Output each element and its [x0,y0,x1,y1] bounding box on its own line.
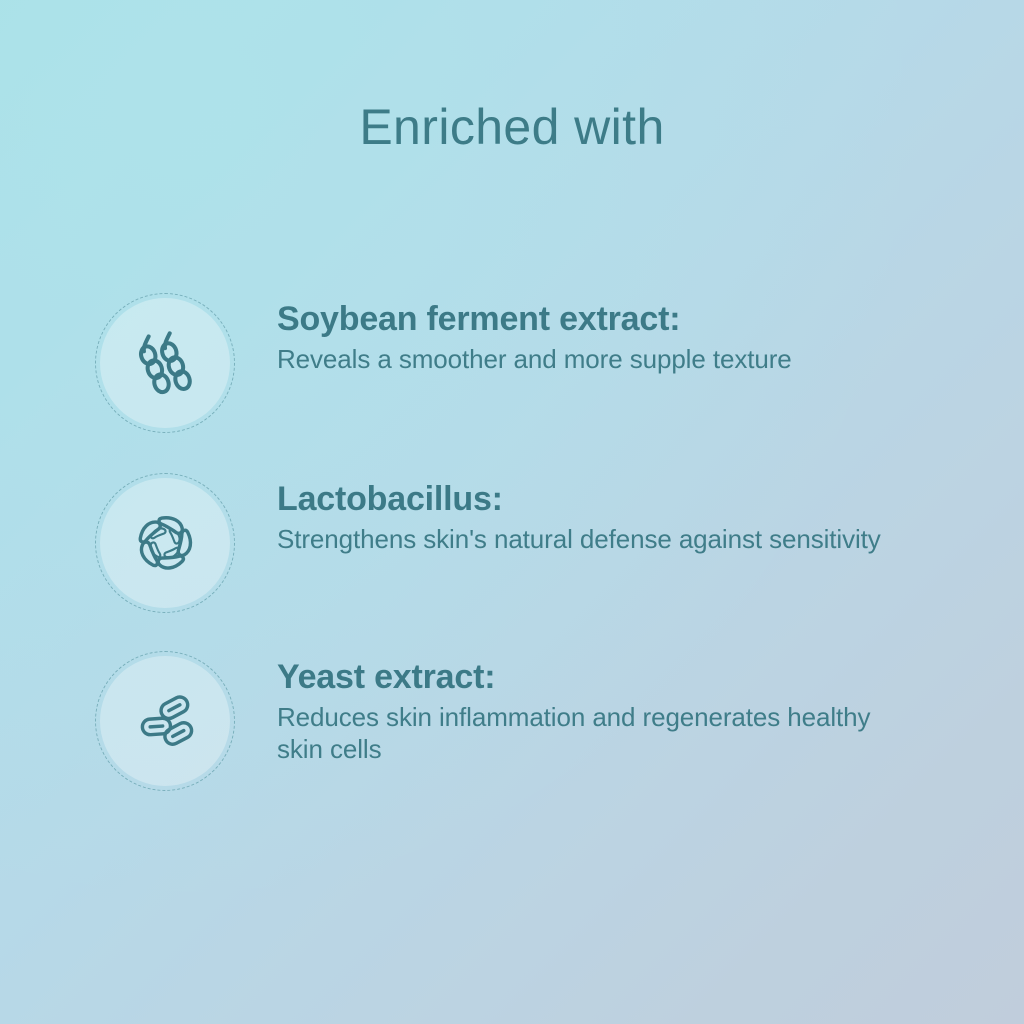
yeast-cells-icon [126,682,204,760]
list-item: Lactobacillus: Strengthens skin's natura… [0,468,1024,618]
enriched-with-panel: Enriched with [0,0,1024,1024]
ingredient-text: Soybean ferment extract: Reveals a smoot… [240,288,917,376]
lactobacillus-bacteria-icon [126,504,204,582]
ingredient-title: Yeast extract: [277,658,917,696]
ingredient-badge-lactobacillus [90,468,240,618]
page-title: Enriched with [0,98,1024,156]
list-item: Soybean ferment extract: Reveals a smoot… [0,288,1024,438]
ingredient-title: Lactobacillus: [277,480,917,518]
ingredient-description: Reduces skin inflammation and regenerate… [277,702,917,765]
ingredient-badge-yeast [90,646,240,796]
list-item: Yeast extract: Reduces skin inflammation… [0,646,1024,796]
ingredient-title: Soybean ferment extract: [277,300,917,338]
ingredient-description: Reveals a smoother and more supple textu… [277,344,917,376]
ingredient-badge-soybean [90,288,240,438]
ingredient-description: Strengthens skin's natural defense again… [277,524,917,556]
soybean-pods-icon [126,324,204,402]
ingredient-text: Yeast extract: Reduces skin inflammation… [240,646,917,766]
ingredient-list: Soybean ferment extract: Reveals a smoot… [0,288,1024,796]
ingredient-text: Lactobacillus: Strengthens skin's natura… [240,468,917,556]
